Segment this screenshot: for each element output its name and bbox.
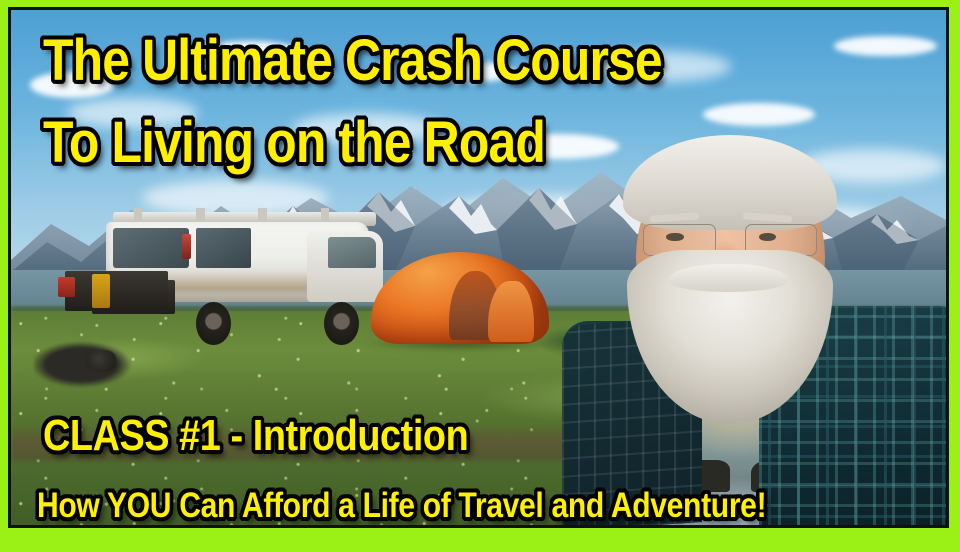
camping-tent bbox=[371, 252, 549, 347]
man-portrait: BORN TO WANDER SINCE 18 YELLOWSTONE NATI… bbox=[553, 131, 946, 525]
title-line-1: The Ultimate Crash Course bbox=[43, 32, 662, 90]
taillight bbox=[182, 234, 191, 259]
camper-van bbox=[58, 188, 404, 343]
title-line-2: To Living on the Road bbox=[43, 114, 545, 172]
dog-head bbox=[86, 350, 116, 372]
photo-canvas: BORN TO WANDER SINCE 18 YELLOWSTONE NATI… bbox=[11, 10, 946, 525]
van-tire bbox=[324, 302, 359, 345]
cargo-red-cooler bbox=[58, 277, 75, 297]
van-side-window bbox=[196, 228, 251, 268]
cargo-carrier bbox=[65, 271, 169, 311]
van-windshield bbox=[328, 237, 376, 268]
van-grime bbox=[159, 271, 311, 292]
class-label: CLASS #1 - Introduction bbox=[43, 414, 468, 458]
dog bbox=[34, 340, 137, 392]
subtitle: How YOU Can Afford a Life of Travel and … bbox=[37, 488, 766, 523]
inner-frame: BORN TO WANDER SINCE 18 YELLOWSTONE NATI… bbox=[8, 7, 949, 528]
mustache bbox=[668, 264, 787, 292]
cargo-yellow-item bbox=[92, 274, 109, 308]
van-rear-window bbox=[113, 228, 189, 268]
van-tire bbox=[196, 302, 231, 345]
video-thumbnail: BORN TO WANDER SINCE 18 YELLOWSTONE NATI… bbox=[0, 0, 960, 552]
